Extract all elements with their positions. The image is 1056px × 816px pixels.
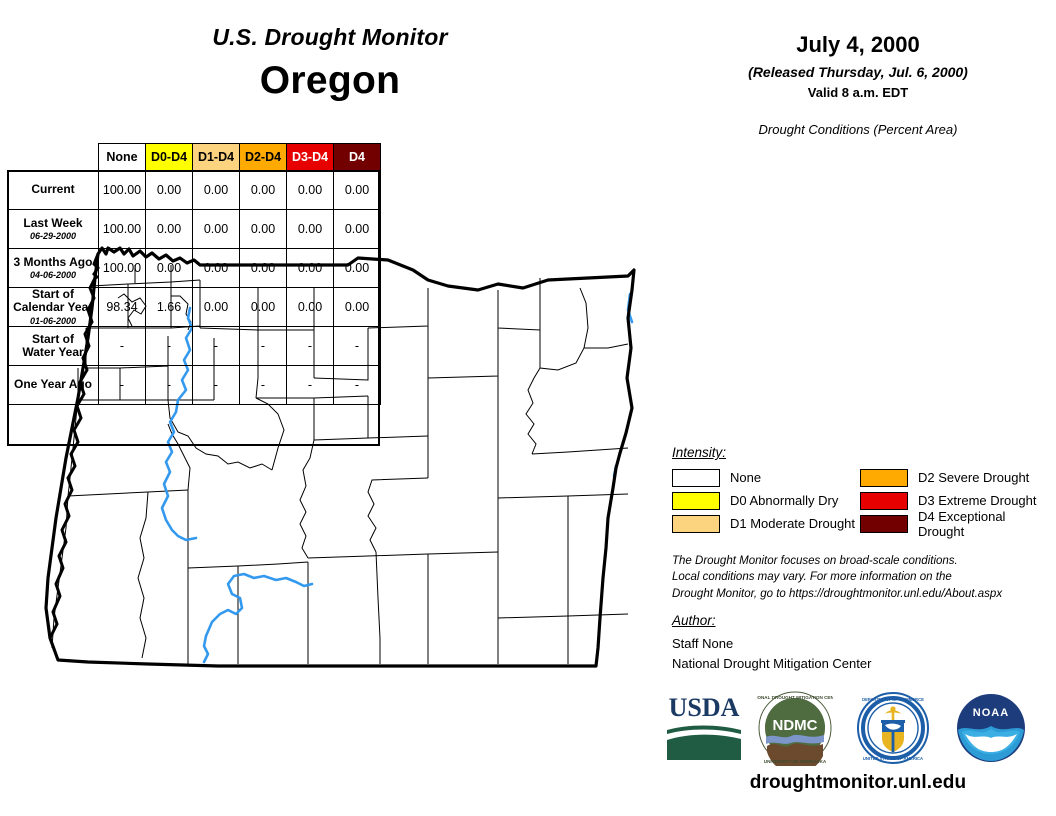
- cell-r0-c5: 0.00: [334, 171, 381, 210]
- map-panel: U.S. Drought Monitor Oregon: [0, 0, 660, 816]
- legend-item[interactable]: D2 Severe Drought: [860, 469, 1048, 487]
- row-date: 04-06-2000: [8, 270, 98, 280]
- cell-r5-c4: -: [287, 366, 334, 405]
- cell-r3-c0: 98.34: [99, 288, 146, 327]
- cell-r5-c0: -: [99, 366, 146, 405]
- table-row: Start ofWater Year------: [8, 327, 381, 366]
- legend-label: D2 Severe Drought: [918, 470, 1029, 485]
- legend-row: D1 Moderate DroughtD4 Exceptional Drough…: [672, 512, 1048, 535]
- row-label-1: Last Week06-29-2000: [8, 210, 99, 249]
- cell-r4-c0: -: [99, 327, 146, 366]
- svg-text:UNITED STATES OF AMERICA: UNITED STATES OF AMERICA: [863, 756, 923, 761]
- cell-r4-c5: -: [334, 327, 381, 366]
- table-header-row: NoneD0-D4D1-D4D2-D4D3-D4D4: [8, 144, 381, 171]
- cell-r4-c2: -: [193, 327, 240, 366]
- cell-r0-c4: 0.00: [287, 171, 334, 210]
- cell-r1-c2: 0.00: [193, 210, 240, 249]
- row-label-4: Start ofWater Year: [8, 327, 99, 366]
- legend-item[interactable]: None: [672, 469, 860, 487]
- cell-r1-c3: 0.00: [240, 210, 287, 249]
- map-title-block: U.S. Drought Monitor Oregon: [0, 24, 660, 103]
- release-date: (Released Thursday, Jul. 6, 2000): [660, 64, 1056, 80]
- legend-label: D0 Abnormally Dry: [730, 493, 838, 508]
- legend-label: D1 Moderate Drought: [730, 516, 855, 531]
- map-kicker-title: U.S. Drought Monitor: [0, 24, 660, 51]
- table-row: One Year Ago------: [8, 366, 381, 405]
- cell-r3-c1: 1.66: [146, 288, 193, 327]
- usda-logo: USDA: [665, 690, 743, 762]
- table-row: Start ofCalendar Year01-06-200098.341.66…: [8, 288, 381, 327]
- cell-r3-c5: 0.00: [334, 288, 381, 327]
- drought-conditions-table[interactable]: NoneD0-D4D1-D4D2-D4D3-D4D4 Current100.00…: [7, 143, 381, 405]
- table-row: Last Week06-29-2000100.000.000.000.000.0…: [8, 210, 381, 249]
- cell-r2-c0: 100.00: [99, 249, 146, 288]
- cell-r4-c3: -: [240, 327, 287, 366]
- cell-r0-c3: 0.00: [240, 171, 287, 210]
- table-column-header-d2-d4: D2-D4: [240, 144, 287, 171]
- table-row: 3 Months Ago04-06-2000100.000.000.000.00…: [8, 249, 381, 288]
- cell-r5-c3: -: [240, 366, 287, 405]
- logo-strip: USDA NDMC NATIONAL DROUGHT MITIGATION CE…: [665, 690, 1045, 770]
- page-title: Oregon: [0, 59, 660, 103]
- legend-label: D4 Exceptional Drought: [918, 509, 1048, 539]
- table-row: Current100.000.000.000.000.000.00: [8, 171, 381, 210]
- cell-r3-c3: 0.00: [240, 288, 287, 327]
- cell-r1-c0: 100.00: [99, 210, 146, 249]
- cell-r5-c1: -: [146, 366, 193, 405]
- legend-swatch: [672, 492, 720, 510]
- row-label-2: 3 Months Ago04-06-2000: [8, 249, 99, 288]
- svg-text:NOAA: NOAA: [973, 707, 1009, 719]
- legend-item[interactable]: D4 Exceptional Drought: [860, 509, 1048, 539]
- cell-r0-c2: 0.00: [193, 171, 240, 210]
- cell-r3-c4: 0.00: [287, 288, 334, 327]
- table-column-header-d0-d4: D0-D4: [146, 144, 193, 171]
- cell-r1-c4: 0.00: [287, 210, 334, 249]
- svg-text:NDMC: NDMC: [773, 717, 818, 734]
- table-column-header-d3-d4: D3-D4: [287, 144, 334, 171]
- row-label-0: Current: [8, 171, 99, 210]
- legend-item[interactable]: D1 Moderate Drought: [672, 515, 860, 533]
- table-caption: Drought Conditions (Percent Area): [660, 122, 1056, 137]
- noaa-logo: NOAA: [953, 690, 1029, 766]
- intensity-legend: NoneD2 Severe DroughtD0 Abnormally DryD3…: [672, 466, 1048, 535]
- us-department-of-commerce-seal: DEPARTMENT OF COMMERCE UNITED STATES OF …: [855, 690, 931, 766]
- legend-heading: Intensity:: [672, 445, 726, 460]
- legend-item[interactable]: D3 Extreme Drought: [860, 492, 1048, 510]
- table-corner-cell: [8, 144, 99, 171]
- row-date: 01-06-2000: [8, 316, 98, 326]
- legend-swatch: [860, 492, 908, 510]
- legend-label: None: [730, 470, 761, 485]
- cell-r5-c2: -: [193, 366, 240, 405]
- author-org: National Drought Mitigation Center: [672, 654, 871, 674]
- legend-label: D3 Extreme Drought: [918, 493, 1037, 508]
- author-heading: Author:: [672, 613, 716, 628]
- legend-swatch: [860, 469, 908, 487]
- svg-text:USDA: USDA: [669, 693, 740, 722]
- cell-r5-c5: -: [334, 366, 381, 405]
- svg-text:UNIVERSITY OF NEBRASKA: UNIVERSITY OF NEBRASKA: [764, 759, 827, 764]
- cell-r4-c1: -: [146, 327, 193, 366]
- cell-r3-c2: 0.00: [193, 288, 240, 327]
- legend-swatch: [860, 515, 908, 533]
- cell-r0-c1: 0.00: [146, 171, 193, 210]
- table-column-header-d4: D4: [334, 144, 381, 171]
- site-url[interactable]: droughtmonitor.unl.edu: [660, 772, 1056, 794]
- disclaimer-text: The Drought Monitor focuses on broad-sca…: [672, 553, 1044, 602]
- author-name: Staff None: [672, 634, 871, 654]
- table-body: Current100.000.000.000.000.000.00Last We…: [8, 171, 381, 405]
- cell-r2-c2: 0.00: [193, 249, 240, 288]
- cell-r4-c4: -: [287, 327, 334, 366]
- cell-r2-c4: 0.00: [287, 249, 334, 288]
- row-date: 06-29-2000: [8, 231, 98, 241]
- cell-r0-c0: 100.00: [99, 171, 146, 210]
- row-label-5: One Year Ago: [8, 366, 99, 405]
- table-column-header-none: None: [99, 144, 146, 171]
- cell-r2-c1: 0.00: [146, 249, 193, 288]
- cell-r2-c3: 0.00: [240, 249, 287, 288]
- row-label-3: Start ofCalendar Year01-06-2000: [8, 288, 99, 327]
- legend-item[interactable]: D0 Abnormally Dry: [672, 492, 860, 510]
- table-column-header-d1-d4: D1-D4: [193, 144, 240, 171]
- disclaimer-line-2: Local conditions may vary. For more info…: [672, 569, 1044, 585]
- svg-text:NATIONAL DROUGHT MITIGATION CE: NATIONAL DROUGHT MITIGATION CENTER: [757, 695, 833, 700]
- ndmc-logo: NDMC NATIONAL DROUGHT MITIGATION CENTER …: [757, 690, 833, 766]
- legend-swatch: [672, 469, 720, 487]
- cell-r1-c5: 0.00: [334, 210, 381, 249]
- issue-date: July 4, 2000: [660, 32, 1056, 58]
- cell-r2-c5: 0.00: [334, 249, 381, 288]
- legend-swatch: [672, 515, 720, 533]
- valid-time: Valid 8 a.m. EDT: [660, 85, 1056, 100]
- svg-text:DEPARTMENT OF COMMERCE: DEPARTMENT OF COMMERCE: [862, 697, 924, 702]
- disclaimer-line-1: The Drought Monitor focuses on broad-sca…: [672, 553, 1044, 569]
- author-block: Staff None National Drought Mitigation C…: [672, 634, 871, 674]
- cell-r1-c1: 0.00: [146, 210, 193, 249]
- legend-row: NoneD2 Severe Drought: [672, 466, 1048, 489]
- disclaimer-line-3: Drought Monitor, go to https://droughtmo…: [672, 586, 1044, 602]
